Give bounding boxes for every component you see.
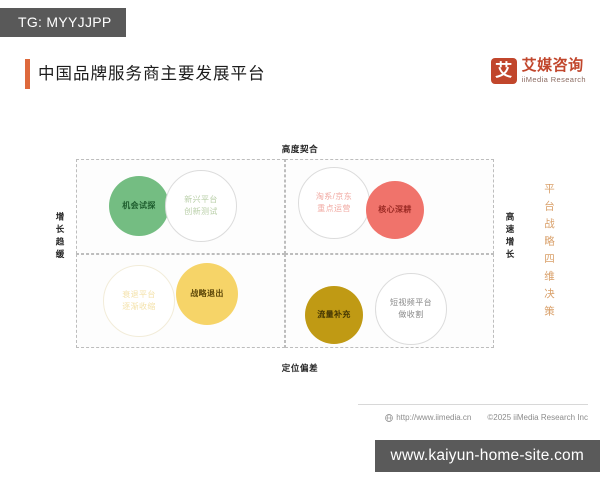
url-overlay-watermark: www.kaiyun-home-site.com [375,440,600,473]
footer-url[interactable]: http://www.iimedia.cn [385,413,471,422]
matrix-side-tag: 平台战略四维决策 [538,183,554,323]
axis-label-bottom: 定位偏差 [0,362,600,374]
bubble-label-line1: 淘系/京东 [316,191,352,203]
url-overlay-label: www.kaiyun-home-site.com [391,447,584,464]
bubble-label: 机会试探 [122,200,156,212]
axis-label-left: 增长趋缓 [50,212,64,262]
bubble-core-cultivation: 核心深耕 [366,181,424,239]
matrix-grid: 机会试探 新兴平台 创新测试 淘系/京东 重点运营 核心深耕 衰退平台 逐渐收缩… [76,159,494,348]
footer-row: http://www.iimedia.cn ©2025 iiMedia Rese… [385,413,588,422]
bubble-strategic-exit: 战略退出 [176,263,238,325]
bubble-label: 流量补充 [317,309,351,321]
bubble-traffic-supplement: 流量补充 [305,286,363,344]
bubble-label: 核心深耕 [378,204,412,216]
bubble-label-line1: 短视频平台 [390,297,432,309]
bubble-emerging-platform-test: 新兴平台 创新测试 [165,170,237,242]
brand-text: 艾媒咨询 iiMedia Research [522,58,586,84]
title-accent-bar [25,59,30,89]
strategy-matrix: 高度契合 定位偏差 增长趋缓 高速增长 平台战略四维决策 机会试探 新兴平台 创… [0,140,600,380]
header: 中国品牌服务商主要发展平台 艾 艾媒咨询 iiMedia Research [0,52,600,104]
bubble-label-line2: 做收割 [398,309,423,321]
bubble-label-line2: 重点运营 [317,203,351,215]
page-title: 中国品牌服务商主要发展平台 [38,60,266,84]
bubble-declining-platform-shrink: 衰退平台 逐渐收缩 [103,265,175,337]
brand-name-en: iiMedia Research [522,76,586,84]
bubble-label: 战略退出 [190,288,224,300]
brand-logo: 艾 艾媒咨询 iiMedia Research [491,58,586,84]
axis-label-right: 高速增长 [500,212,514,262]
bubble-label-line1: 新兴平台 [184,194,218,206]
telegram-watermark-badge: TG: MYYJJPP [0,8,126,37]
footer-url-label: http://www.iimedia.cn [396,413,471,422]
globe-icon [385,414,393,422]
bubble-label-line2: 逐渐收缩 [122,301,156,313]
footer-copyright: ©2025 iiMedia Research Inc [487,413,588,422]
bubble-label-line1: 衰退平台 [122,289,156,301]
bubble-opportunity-probe: 机会试探 [109,176,169,236]
footer: http://www.iimedia.cn ©2025 iiMedia Rese… [0,404,600,434]
bubble-label-line2: 创新测试 [184,206,218,218]
brand-name-cn: 艾媒咨询 [522,58,586,74]
axis-label-top: 高度契合 [0,143,600,155]
footer-divider [358,404,588,405]
telegram-watermark-label: TG: MYYJJPP [18,14,112,30]
brand-mark-icon: 艾 [491,58,517,84]
bubble-taobao-jd-focus: 淘系/京东 重点运营 [298,167,370,239]
bubble-short-video-harvest: 短视频平台 做收割 [375,273,447,345]
